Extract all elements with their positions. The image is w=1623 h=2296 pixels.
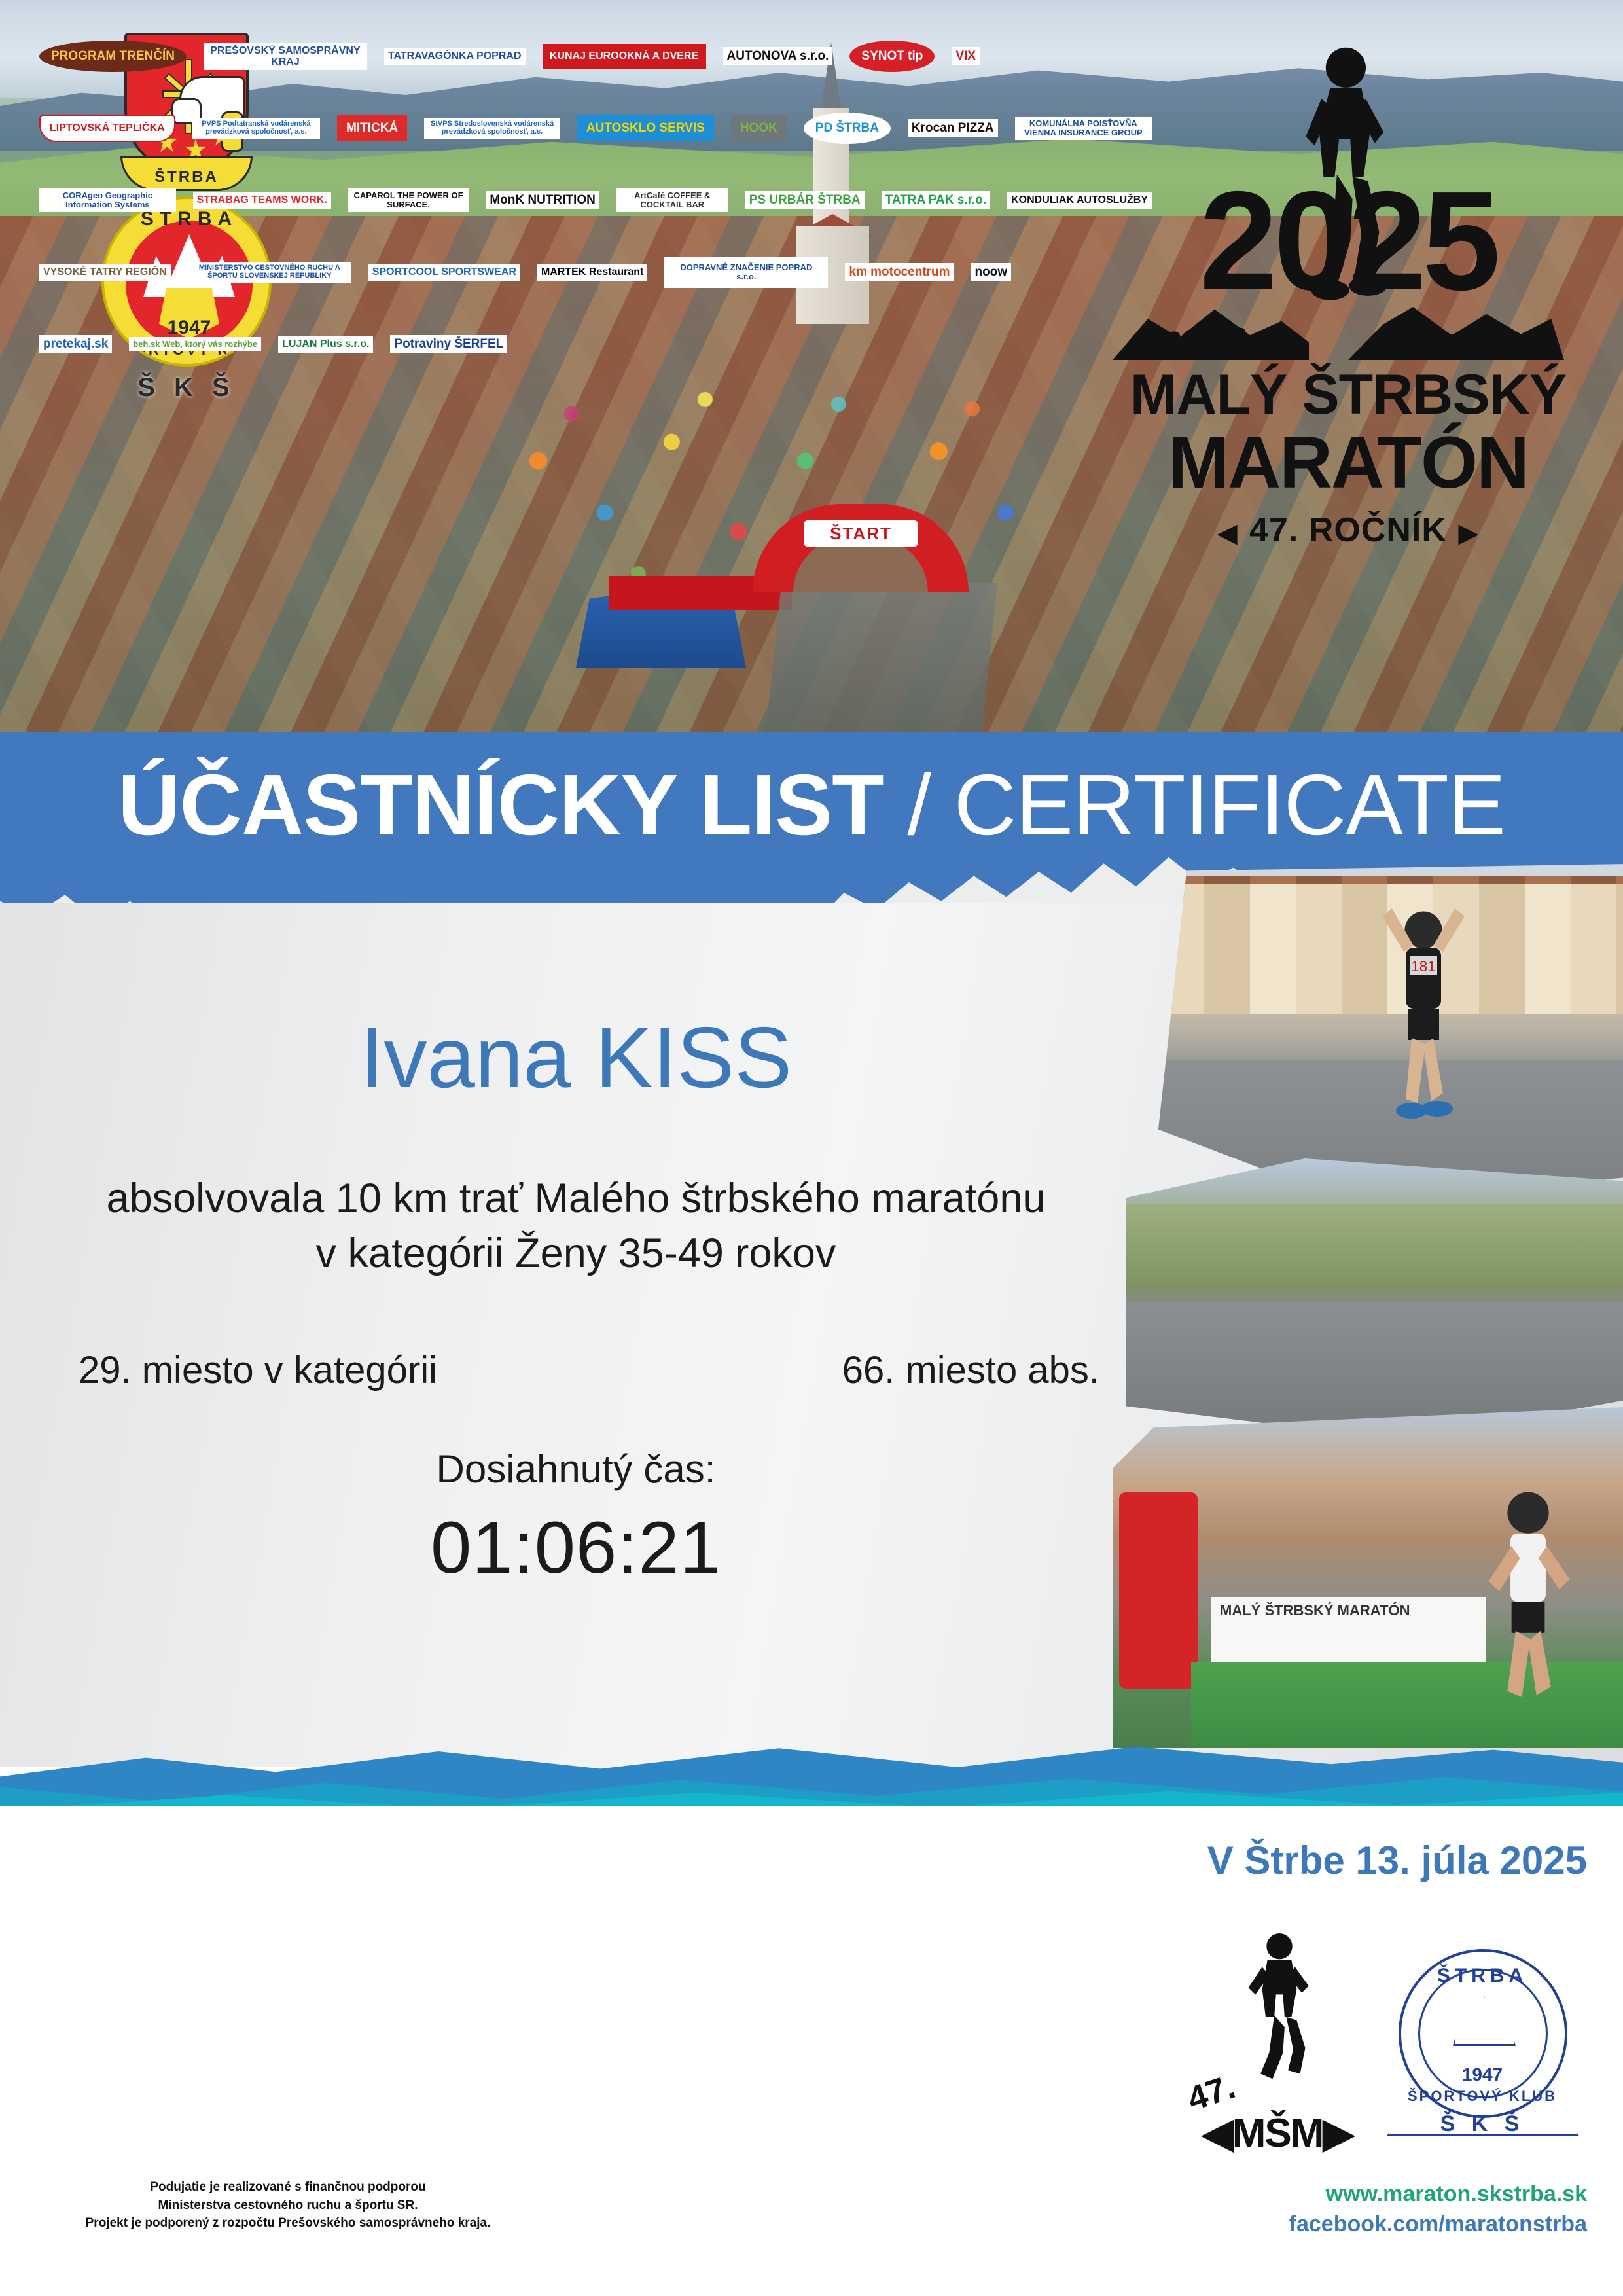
sponsor-logo: MonK NUTRITION bbox=[486, 191, 599, 210]
msm-abbrev: ◀MŠM▶ bbox=[1202, 2109, 1353, 2157]
sponsor-logo: PVPS Podtatranská vodárenská prevádzková… bbox=[192, 118, 320, 139]
male-runner-figure bbox=[1472, 1486, 1584, 1734]
title-separator: / bbox=[884, 757, 954, 853]
sponsor-logo: ArtCafé COFFEE & COCKTAIL BAR bbox=[616, 188, 728, 212]
sponsor-logo: PROGRAM TRENČÍN bbox=[39, 41, 187, 73]
stamp-bottom-text: Š K Š bbox=[1384, 2111, 1580, 2137]
web-links: www.maraton.skstrba.sk facebook.com/mara… bbox=[1155, 2179, 1587, 2240]
sponsor-logo: KONDULIAK AUTOSLUŽBY bbox=[1007, 192, 1152, 208]
photo-hill-runners bbox=[1126, 1158, 1623, 1440]
stamp-top-text: ŠTRBA bbox=[1384, 1965, 1580, 1987]
sponsor-logo: PS URBÁR ŠTRBA bbox=[745, 191, 865, 210]
placement-row: 29. miesto v kategórii 66. miesto abs. bbox=[79, 1348, 1099, 1392]
event-logo: 2025 31 km 10 km MALÝ ŠTRBSKÝ MARATÓN 47… bbox=[1113, 39, 1584, 596]
event-edition: 47. ROČNÍK bbox=[1113, 511, 1584, 550]
sponsor-row: VYSOKÉ TATRY REGIÓNMINISTERSTVO CESTOVNÉ… bbox=[39, 242, 1152, 302]
msm-runner-icon bbox=[1234, 1931, 1325, 2094]
place-in-category: 29. miesto v kategórii bbox=[79, 1348, 437, 1392]
sks-stamp-icon: ŠTRBA 1947 ŠPORTOVÝ KLUB Š K Š bbox=[1384, 1936, 1580, 2139]
stamp-year: 1947 bbox=[1384, 2064, 1580, 2085]
sponsor-row: pretekaj.skbeh.sk Web, ktorý vás rozhýbe… bbox=[39, 314, 1152, 374]
sponsor-logo: SYNOT tip bbox=[849, 41, 935, 73]
sponsor-row: LIPTOVSKÁ TEPLIČKAPVPS Podtatranská vodá… bbox=[39, 98, 1152, 158]
title-bold: ÚČASTNÍCKY LIST bbox=[118, 757, 884, 853]
sponsor-logo: AUTOSKLO SERVIS bbox=[577, 115, 714, 142]
achievement-text: absolvovala 10 km trať Malého štrbského … bbox=[0, 1172, 1152, 1282]
footer-logos: 47. ◀MŠM▶ ŠTRBA 1947 ŠPORTOVÝ KLUB Š K Š bbox=[1181, 1918, 1587, 2160]
sponsor-logos: PROGRAM TRENČÍNPREŠOVSKÝ SAMOSPRÁVNY KRA… bbox=[39, 26, 1152, 439]
disclaimer-line-1: Podujatie je realizované s finančnou pod… bbox=[39, 2178, 537, 2197]
stamp-mid-text: ŠPORTOVÝ KLUB bbox=[1384, 2088, 1580, 2105]
issue-date: V Štrbe 13. júla 2025 bbox=[1168, 1838, 1587, 1883]
sponsor-logo: KOMUNÁLNA POISŤOVŇA VIENNA INSURANCE GRO… bbox=[1015, 117, 1152, 140]
place-absolute: 66. miesto abs. bbox=[842, 1348, 1099, 1392]
event-year: 2025 bbox=[1113, 170, 1584, 311]
sponsor-logo: LUJAN Plus s.r.o. bbox=[278, 336, 373, 352]
sponsor-logo: MINISTERSTVO CESTOVNÉHO RUCHU A ŠPORTU S… bbox=[188, 262, 351, 283]
sponsor-logo: noow bbox=[971, 263, 1012, 282]
title-light: CERTIFICATE bbox=[954, 757, 1505, 853]
photo-finish-female-runner: 181 bbox=[1158, 864, 1623, 1204]
sponsor-logo: KUNAJ EUROOKNÁ A DVERE bbox=[543, 44, 706, 68]
sponsor-logo: pretekaj.sk bbox=[39, 335, 112, 354]
sponsor-logo: MITICKÁ bbox=[337, 115, 407, 142]
sponsor-logo: PREŠOVSKÝ SAMOSPRÁVNY KRAJ bbox=[204, 43, 367, 71]
achievement-line-2: v kategórii Ženy 35-49 rokov bbox=[0, 1227, 1152, 1282]
msm-logo: 47. ◀MŠM▶ bbox=[1188, 1931, 1364, 2147]
certificate-page: ŠTART ŠTRBA ŠTRBA 1947 ŠPORTOVÝ KLUB Š K… bbox=[0, 0, 1623, 2296]
sponsor-row: CORAgeo Geographic Information SystemsST… bbox=[39, 170, 1152, 230]
sponsor-row: PROGRAM TRENČÍNPREŠOVSKÝ SAMOSPRÁVNY KRA… bbox=[39, 26, 1152, 86]
race-banner-text: MALÝ ŠTRBSKÝ MARATÓN bbox=[1211, 1597, 1486, 1669]
disclaimer-line-2: Ministerstva cestovného ruchu a športu S… bbox=[39, 2197, 537, 2215]
time-label: Dosiahnutý čas: bbox=[0, 1446, 1152, 1492]
sponsor-logo: STRABAG TEAMS WORK. bbox=[193, 192, 331, 208]
sponsor-logo: DOPRAVNÉ ZNAČENIE POPRAD s.r.o. bbox=[664, 257, 828, 288]
sponsor-logo: LIPTOVSKÁ TEPLIČKA bbox=[39, 115, 175, 141]
disclaimer-line-3: Projekt je podporený z rozpočtu Prešovsk… bbox=[39, 2214, 537, 2233]
sponsor-logo: PD ŠTRBA bbox=[804, 113, 891, 145]
sponsor-logo: VYSOKÉ TATRY REGIÓN bbox=[39, 264, 171, 280]
funding-disclaimer: Podujatie je realizované s finančnou pod… bbox=[39, 2178, 537, 2233]
svg-text:181: 181 bbox=[1411, 958, 1436, 975]
start-label: ŠTART bbox=[804, 520, 918, 547]
sponsor-logo: Krocan PIZZA bbox=[908, 119, 998, 138]
achievement-line-1: absolvovala 10 km trať Malého štrbského … bbox=[0, 1172, 1152, 1227]
sponsor-logo: CAPAROL THE POWER OF SURFACE. bbox=[348, 188, 469, 212]
sponsor-logo: StVPS Stredoslovenská vodárenská prevádz… bbox=[424, 118, 560, 139]
photo-finish-male-runner: MALÝ ŠTRBSKÝ MARATÓN bbox=[1113, 1407, 1623, 1748]
female-runner-figure: 181 bbox=[1374, 903, 1472, 1165]
website-link[interactable]: www.maraton.skstrba.sk bbox=[1155, 2179, 1587, 2210]
sponsor-logo: MARTEK Restaurant bbox=[537, 264, 647, 280]
photo-collage: 181 MALÝ ŠTRBSKÝ MARATÓN bbox=[1113, 851, 1623, 1767]
sponsor-logo: km motocentrum bbox=[845, 263, 954, 282]
event-name-line2: MARATÓN bbox=[1113, 425, 1584, 500]
sponsor-logo: Potraviny ŠERFEL bbox=[390, 335, 507, 354]
sponsor-logo: SPORTCOOL SPORTSWEAR bbox=[368, 264, 520, 280]
sponsor-logo: HOOK bbox=[731, 115, 787, 142]
sponsor-logo: TATRA PAK s.r.o. bbox=[882, 191, 990, 210]
runner-name: Ivana KISS bbox=[0, 1008, 1152, 1107]
sponsor-logo: AUTONOVA s.r.o. bbox=[723, 47, 833, 66]
sponsor-logo: beh.sk Web, ktorý vás rozhýbe bbox=[129, 337, 261, 351]
sponsor-logo: TATRAVAGÓNKA POPRAD bbox=[384, 48, 526, 64]
facebook-link[interactable]: facebook.com/maratonstrba bbox=[1155, 2210, 1587, 2240]
finish-time: 01:06:21 bbox=[0, 1505, 1152, 1590]
sponsor-logo: CORAgeo Geographic Information Systems bbox=[39, 188, 176, 212]
event-name-line1: MALÝ ŠTRBSKÝ bbox=[1113, 367, 1584, 424]
sponsor-logo: VIX bbox=[952, 47, 980, 66]
